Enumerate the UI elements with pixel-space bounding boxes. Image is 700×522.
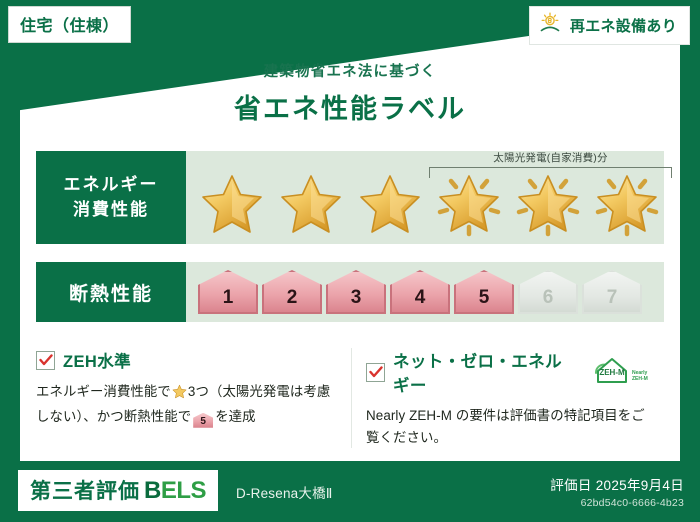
zeh-standard-header: ZEH水準 bbox=[36, 348, 337, 372]
evaluation-date: 評価日 2025年9月4日 bbox=[550, 474, 684, 494]
net-zero-energy-body: Nearly ZEH-M の要件は評価書の特記項目をご覧ください。 bbox=[366, 405, 652, 448]
page-title: 省エネ性能ラベル bbox=[0, 87, 700, 126]
checkmark-icon bbox=[366, 363, 385, 382]
checkmark-icon bbox=[36, 351, 55, 370]
solar-sun-icon bbox=[539, 12, 563, 39]
insulation-label-text: 断熱性能 bbox=[69, 279, 153, 306]
insulation-performance-row: 断熱性能 1 2 3 4 bbox=[36, 262, 664, 322]
energy-star bbox=[350, 168, 429, 240]
insulation-level-value: 5 bbox=[479, 287, 490, 309]
insulation-level-value: 1 bbox=[223, 287, 234, 309]
insulation-level-value: 4 bbox=[415, 287, 426, 309]
zeh-body-part3: を達成 bbox=[215, 409, 255, 424]
insulation-level-badge: 6 bbox=[518, 270, 578, 314]
bels-letters-els: ELS bbox=[161, 477, 206, 504]
net-zero-energy-header: ネット・ゼロ・エネルギー ZEH-M Nearly ZEH-M bbox=[366, 348, 652, 396]
zeh-body-part1: エネルギー消費性能で bbox=[36, 384, 171, 399]
insulation-level-badge: 7 bbox=[582, 270, 642, 314]
bels-logo: BELS bbox=[144, 477, 206, 505]
bels-letter-b: B bbox=[144, 477, 161, 504]
inline-star-icon bbox=[172, 387, 187, 402]
zeh-standard-title: ZEH水準 bbox=[63, 348, 131, 372]
label-title-block: 建築物省エネ法に基づく 省エネ性能ラベル bbox=[0, 60, 700, 126]
zeh-standard-column: ZEH水準 エネルギー消費性能で3つ（太陽光発電は考慮しない）、かつ断熱性能で5… bbox=[36, 348, 351, 448]
svg-text:ZEH-M: ZEH-M bbox=[632, 376, 648, 382]
evaluation-meta: 評価日 2025年9月4日 62bd54c0-6666-4b23 bbox=[550, 474, 684, 509]
energy-star-solar bbox=[508, 168, 587, 240]
energy-rating-area: 太陽光発電(自家消費)分 bbox=[186, 151, 666, 244]
insulation-performance-label: 断熱性能 bbox=[36, 262, 186, 322]
net-zero-energy-title: ネット・ゼロ・エネルギー bbox=[393, 348, 574, 396]
insulation-level-strip: 1 2 3 4 5 bbox=[186, 262, 664, 322]
building-name: D-Resena大橋Ⅱ bbox=[236, 482, 333, 502]
energy-star-solar bbox=[587, 168, 666, 240]
label-footer: 第三者評価 BELS D-Resena大橋Ⅱ 評価日 2025年9月4日 62b… bbox=[0, 462, 700, 522]
insulation-level-value: 6 bbox=[543, 287, 554, 309]
svg-text:ZEH-M: ZEH-M bbox=[599, 368, 625, 377]
criteria-columns: ZEH水準 エネルギー消費性能で3つ（太陽光発電は考慮しない）、かつ断熱性能で5… bbox=[36, 348, 666, 448]
evaluation-date-value: 2025年9月4日 bbox=[596, 478, 684, 493]
third-party-evaluation-label: 第三者評価 bbox=[30, 475, 140, 505]
insulation-level-badge: 2 bbox=[262, 270, 322, 314]
bels-certification-plate: 第三者評価 BELS bbox=[18, 470, 218, 511]
insulation-level-badge: 1 bbox=[198, 270, 258, 314]
insulation-rating-area: 1 2 3 4 5 bbox=[186, 262, 664, 322]
zeh-body-star-count: 3つ bbox=[188, 384, 209, 399]
energy-label-line2: 消費性能 bbox=[73, 198, 149, 223]
energy-label-line1: エネルギー bbox=[64, 173, 159, 198]
insulation-level-value: 2 bbox=[287, 287, 298, 309]
title-subtitle: 建築物省エネ法に基づく bbox=[0, 60, 700, 81]
insulation-level-badge: 4 bbox=[390, 270, 450, 314]
insulation-level-badge: 3 bbox=[326, 270, 386, 314]
renewable-badge-label: 再エネ設備あり bbox=[570, 15, 677, 36]
evaluation-date-label: 評価日 bbox=[550, 478, 591, 493]
energy-performance-label: 住宅（住棟） 再エネ設備あり 建築物省エネ法に基づく 省エネ性能ラベル bbox=[0, 0, 700, 522]
insulation-level-value: 3 bbox=[351, 287, 362, 309]
insulation-level-badge: 5 bbox=[454, 270, 514, 314]
renewable-equipment-badge: 再エネ設備あり bbox=[529, 6, 690, 45]
inline-house-level-icon: 5 bbox=[193, 413, 213, 428]
energy-star bbox=[271, 168, 350, 240]
energy-performance-row: エネルギー 消費性能 太陽光発電(自家消費)分 bbox=[36, 151, 664, 244]
evaluation-id: 62bd54c0-6666-4b23 bbox=[550, 497, 684, 509]
zeh-m-logo-icon: ZEH-M Nearly ZEH-M bbox=[588, 355, 652, 390]
energy-star-solar bbox=[429, 168, 508, 240]
energy-star bbox=[192, 168, 271, 240]
insulation-level-value: 7 bbox=[607, 287, 618, 309]
net-zero-energy-column: ネット・ゼロ・エネルギー ZEH-M Nearly ZEH-M Nearly Z… bbox=[351, 348, 666, 448]
energy-star-strip bbox=[186, 151, 666, 244]
category-tag: 住宅（住棟） bbox=[8, 6, 131, 43]
energy-performance-label: エネルギー 消費性能 bbox=[36, 151, 186, 244]
inline-house-level-value: 5 bbox=[200, 417, 206, 428]
zeh-standard-body: エネルギー消費性能で3つ（太陽光発電は考慮しない）、かつ断熱性能で5を達成 bbox=[36, 381, 337, 428]
